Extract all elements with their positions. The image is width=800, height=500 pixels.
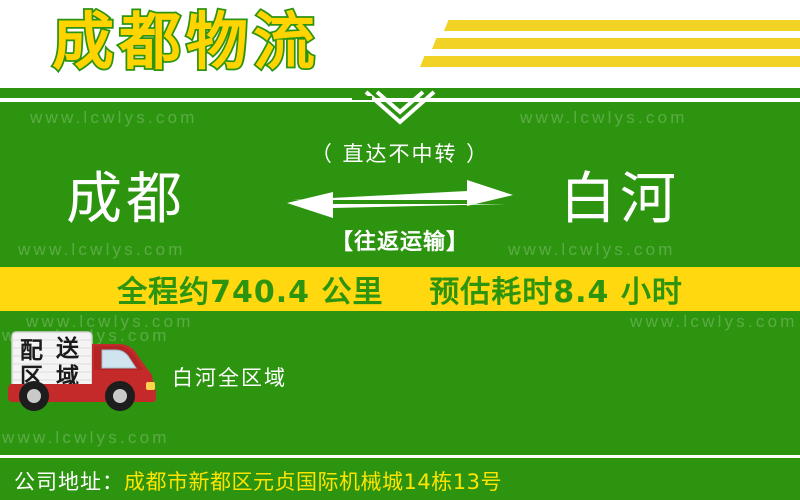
- page-title: 成都物流: [52, 3, 320, 81]
- svg-text:送: 送: [56, 335, 79, 362]
- watermark-text: www.lcwlys.com: [630, 312, 798, 332]
- decorative-stripe: [432, 38, 800, 49]
- route-stats-text: 全程约740.4 公里 预估耗时8.4 小时: [117, 267, 683, 311]
- company-address-bar: 公司地址： 成都市新都区元贞国际机械城14栋13号: [0, 462, 800, 500]
- double-headed-arrow-icon: [285, 178, 515, 220]
- company-address-label: 公司地址：: [14, 466, 124, 496]
- watermark-text: www.lcwlys.com: [30, 108, 198, 128]
- double-chevron-down-icon: [352, 88, 448, 130]
- delivery-truck-icon: 配 送 区 域: [6, 330, 158, 412]
- banner-header: 成都物流: [0, 0, 800, 88]
- direct-shipping-label: （ 直达不中转 ）: [0, 138, 800, 168]
- svg-text:配: 配: [20, 338, 43, 364]
- destination-city: 白河: [560, 168, 680, 232]
- footer-divider-rule: [0, 455, 800, 458]
- logistics-route-banner: www.lcwlys.com www.lcwlys.com www.lcwlys…: [0, 0, 800, 500]
- company-address-value: 成都市新都区元贞国际机械城14栋13号: [124, 466, 502, 496]
- decorative-stripe: [444, 20, 800, 31]
- route-stats-bar: 全程约740.4 公里 预估耗时8.4 小时: [0, 267, 800, 311]
- watermark-text: www.lcwlys.com: [520, 108, 688, 128]
- watermark-text: www.lcwlys.com: [26, 312, 194, 332]
- origin-city: 成都: [66, 168, 186, 232]
- roundtrip-label: 【往返运输】: [0, 224, 800, 256]
- decorative-stripe: [420, 56, 800, 67]
- coverage-area-text: 白河全区域: [172, 362, 287, 392]
- watermark-text: www.lcwlys.com: [2, 428, 170, 448]
